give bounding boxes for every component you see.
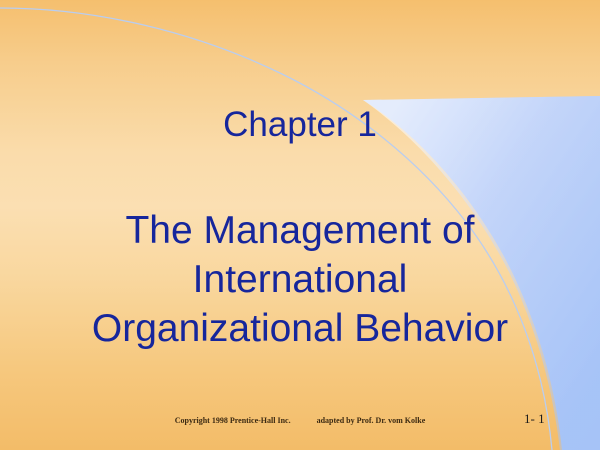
page-number: 1- 1 <box>524 411 558 427</box>
copyright-text: Copyright 1998 Prentice-Hall Inc. <box>175 416 291 425</box>
slide-footer: Copyright 1998 Prentice-Hall Inc. adapte… <box>0 416 600 426</box>
adaptation-credit: adapted by Prof. Dr. vom Kolke <box>317 416 426 425</box>
page-title-line-3: Organizational Behavior <box>0 304 600 353</box>
page-title-line-1: The Management of <box>0 206 600 255</box>
slide-content: Chapter 1 The Management of Internationa… <box>0 0 600 450</box>
presentation-slide: Chapter 1 The Management of Internationa… <box>0 0 600 450</box>
page-title-line-2: International <box>0 255 600 304</box>
page-title: The Management of International Organiza… <box>0 206 600 353</box>
chapter-label: Chapter 1 <box>0 104 600 146</box>
